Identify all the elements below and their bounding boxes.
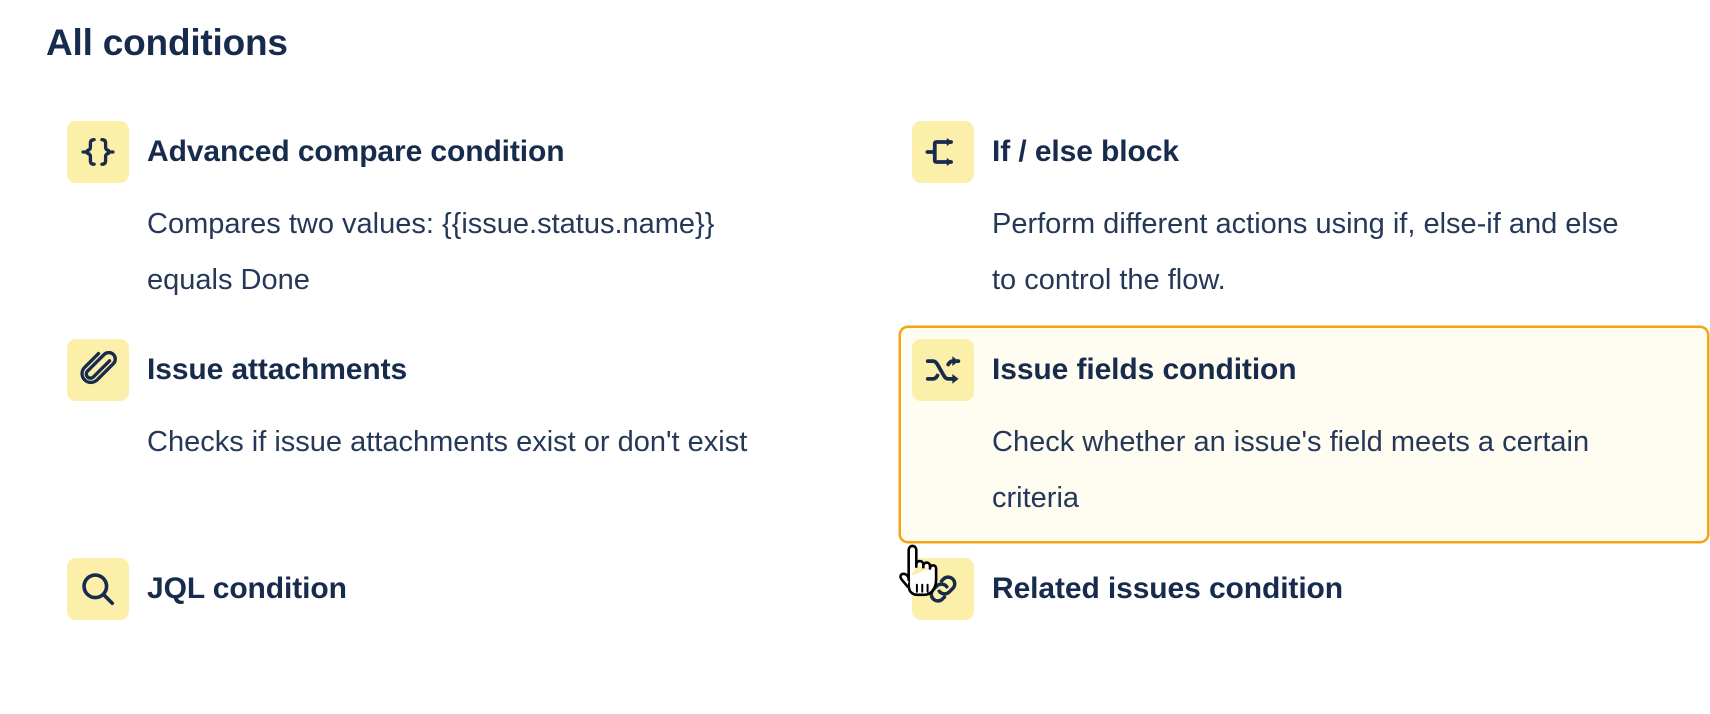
card-title: Advanced compare condition (147, 134, 564, 170)
condition-card-issue-fields-condition[interactable]: Issue fields condition Check whether an … (899, 326, 1709, 542)
branch-arrows-icon (912, 121, 974, 183)
shuffle-arrows-icon (912, 339, 974, 401)
card-title: Issue attachments (147, 352, 407, 388)
condition-card-issue-attachments[interactable]: Issue attachments Checks if issue attach… (54, 326, 864, 542)
card-header: Issue attachments (67, 339, 850, 401)
card-header: If / else block (912, 121, 1695, 183)
condition-card-advanced-compare-condition[interactable]: Advanced compare condition Compares two … (54, 108, 864, 324)
condition-card-jql-condition[interactable]: JQL condition (54, 545, 864, 713)
link-icon (912, 558, 974, 620)
curly-braces-icon (67, 121, 129, 183)
condition-card-related-issues-condition[interactable]: Related issues condition (899, 545, 1709, 713)
conditions-grid: Advanced compare condition Compares two … (0, 108, 1710, 714)
magnifier-icon (67, 558, 129, 620)
card-description: Check whether an issue's field meets a c… (992, 415, 1592, 526)
card-title: Related issues condition (992, 571, 1343, 607)
condition-card-if-else-block[interactable]: If / else block Perform different action… (899, 108, 1709, 324)
card-header: Related issues condition (912, 558, 1695, 620)
all-conditions-panel: All conditions Advanced compare conditio… (0, 0, 1710, 714)
paperclip-icon (67, 339, 129, 401)
card-title: JQL condition (147, 571, 347, 607)
card-header: Advanced compare condition (67, 121, 850, 183)
card-header: Issue fields condition (912, 339, 1695, 401)
card-title: If / else block (992, 134, 1179, 170)
card-description: Compares two values: {{issue.status.name… (147, 197, 777, 308)
page-title: All conditions (46, 20, 288, 66)
card-description: Perform different actions using if, else… (992, 197, 1622, 308)
card-description: Checks if issue attachments exist or don… (147, 415, 777, 471)
card-header: JQL condition (67, 558, 850, 620)
card-title: Issue fields condition (992, 352, 1297, 388)
